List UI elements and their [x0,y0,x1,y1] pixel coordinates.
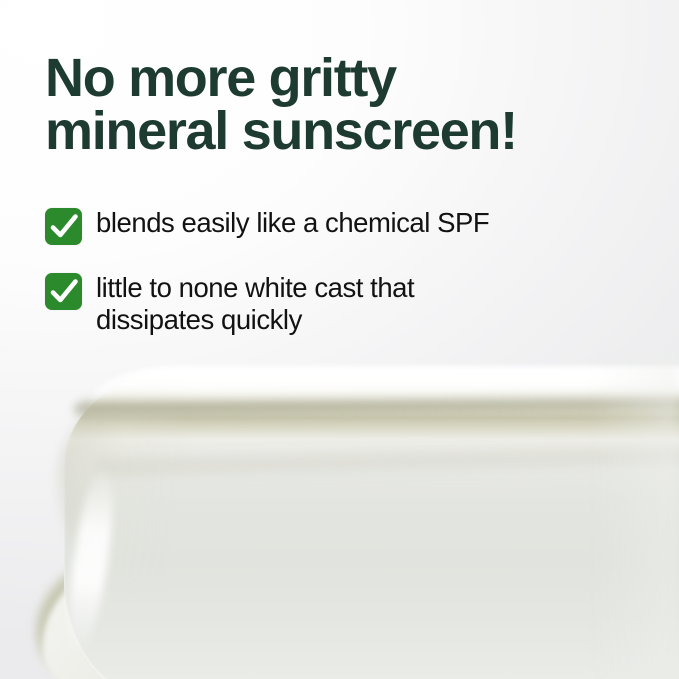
benefit-list: blends easily like a chemical SPF little… [45,206,665,336]
list-item-label: blends easily like a chemical SPF [96,206,489,239]
page-title: No more gritty mineral sunscreen! [45,52,660,159]
check-mark-icon [45,208,82,245]
product-image [0,352,679,679]
check-mark-icon [45,273,82,310]
list-item: little to none white cast that dissipate… [45,271,665,336]
list-item-label: little to none white cast that dissipate… [96,271,414,336]
list-item: blends easily like a chemical SPF [45,206,665,245]
cream-right-fade [589,352,679,679]
infographic-canvas: No more gritty mineral sunscreen! blends… [0,0,679,679]
